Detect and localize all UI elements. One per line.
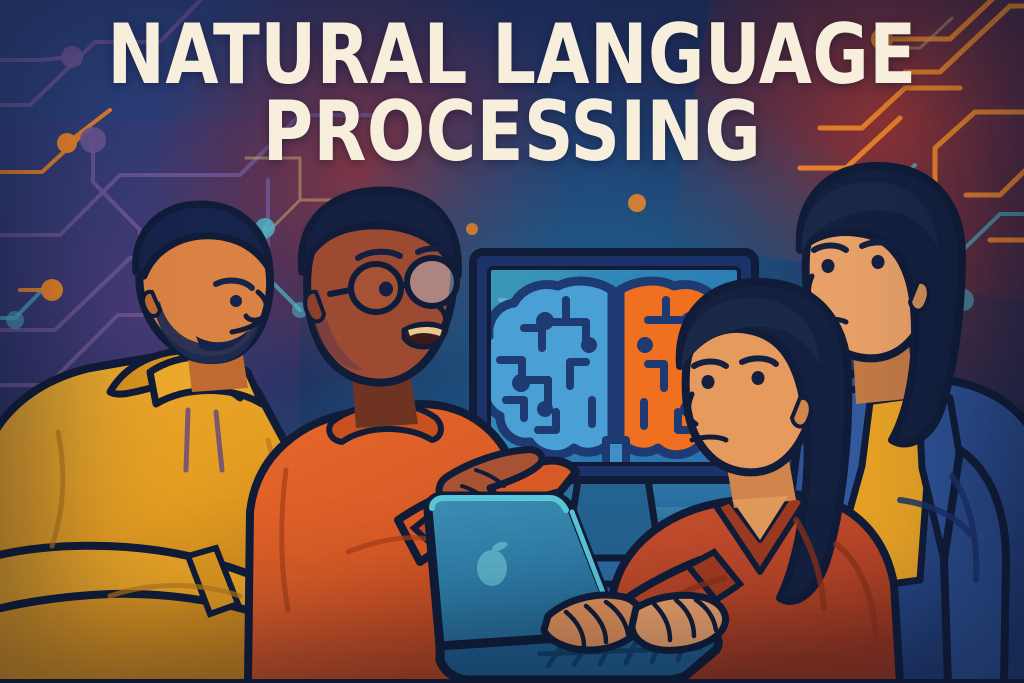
- poster-canvas: NATURAL LANGUAGE PROCESSING: [0, 0, 1024, 683]
- title-line-2: PROCESSING: [41, 95, 983, 170]
- title-line-1: NATURAL LANGUAGE: [41, 18, 983, 93]
- poster-title: NATURAL LANGUAGE PROCESSING: [0, 18, 1024, 169]
